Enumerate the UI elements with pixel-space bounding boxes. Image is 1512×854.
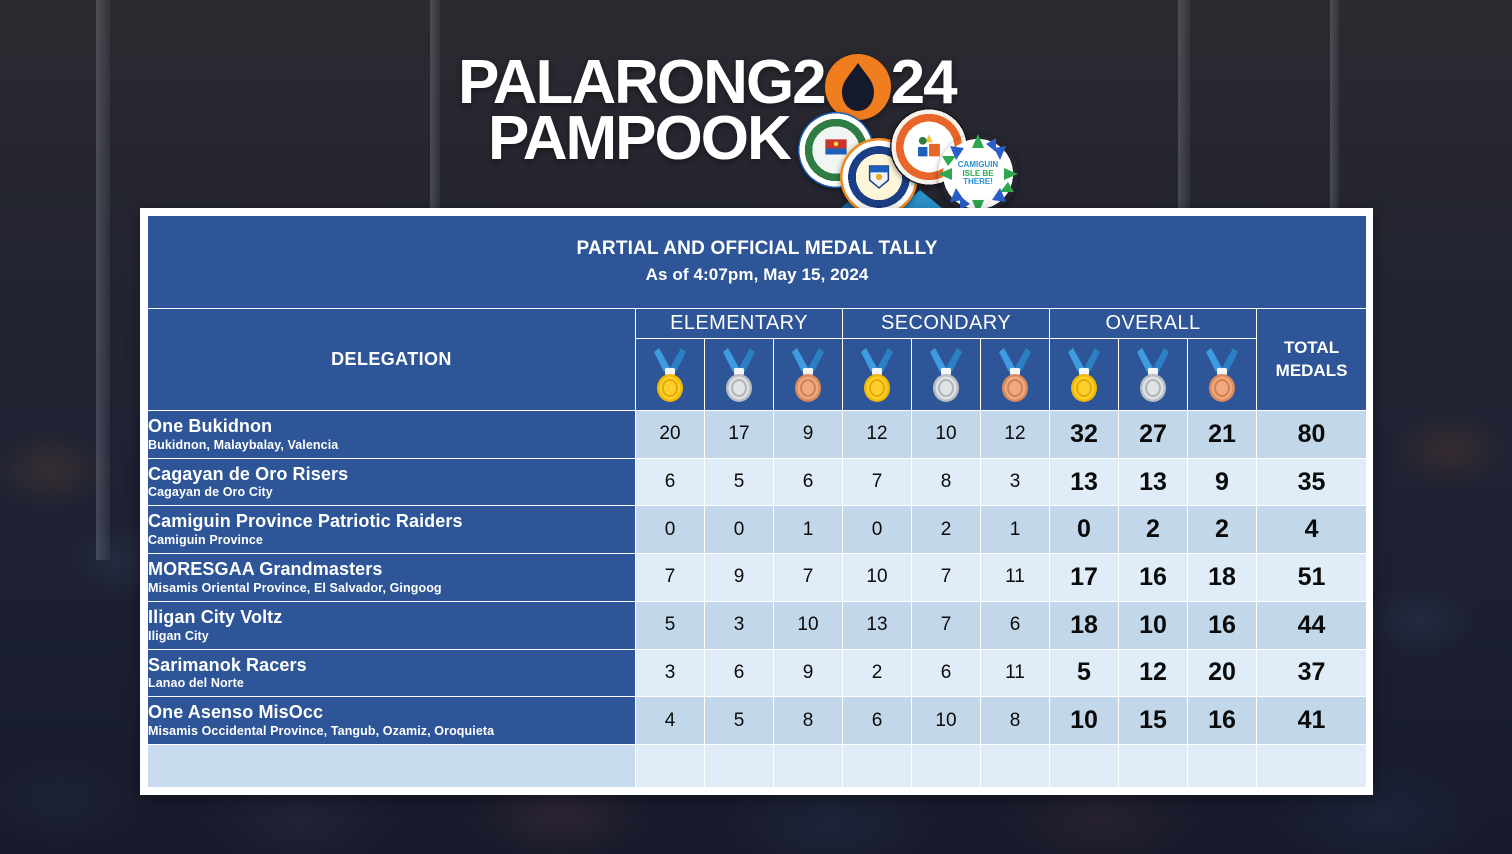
total-header-line-2: MEDALS [1257,360,1366,383]
medal-count-cell: 10 [774,601,843,649]
silver-medal-icon [705,339,774,411]
medal-count-cell: 6 [774,458,843,506]
medal-count-cell: 9 [705,554,774,602]
delegation-cell: One BukidnonBukidnon, Malaybalay, Valenc… [148,411,636,459]
gold-medal-icon [843,339,912,411]
medal-count-cell: 8 [912,458,981,506]
medal-count-cell: 6 [912,649,981,697]
table-body: One BukidnonBukidnon, Malaybalay, Valenc… [148,411,1367,745]
delegation-cell: Camiguin Province Patriotic RaidersCamig… [148,506,636,554]
delegation-cell: Sarimanok RacersLanao del Norte [148,649,636,697]
total-header-line-1: TOTAL [1257,337,1366,360]
medal-count-cell: 16 [1188,601,1257,649]
medal-count-cell: 5 [1050,649,1119,697]
group-header-elementary: ELEMENTARY [636,309,843,339]
gold-medal-icon [1050,339,1119,411]
medal-count-cell: 10 [912,411,981,459]
flame-icon [825,54,891,120]
delegation-name: One Asenso MisOcc [148,702,635,723]
medal-count-cell: 7 [843,458,912,506]
seal-caption-line-3: THERE! [963,178,993,186]
filler-cell [843,744,912,787]
logo-line-1-tail: 24 [891,48,956,117]
delegation-name: MORESGAA Grandmasters [148,559,635,580]
table-row: Sarimanok RacersLanao del Norte369261151… [148,649,1367,697]
delegation-subtitle: Lanao del Norte [148,676,635,691]
medal-count-cell: 12 [1119,649,1188,697]
medal-count-cell: 5 [636,601,705,649]
filler-cell [1119,744,1188,787]
page-title: PARTIAL AND OFFICIAL MEDAL TALLY [148,236,1366,262]
medal-count-cell: 5 [705,697,774,745]
total-medals-cell: 51 [1257,554,1367,602]
silver-medal-icon [1119,339,1188,411]
medal-count-cell: 9 [774,411,843,459]
medal-count-cell: 3 [981,458,1050,506]
medal-count-cell: 8 [981,697,1050,745]
medal-count-cell: 20 [636,411,705,459]
total-medals-cell: 35 [1257,458,1367,506]
filler-cell [1050,744,1119,787]
delegation-subtitle: Cagayan de Oro City [148,485,635,500]
medal-count-cell: 0 [1050,506,1119,554]
total-medals-cell: 80 [1257,411,1367,459]
medal-count-cell: 0 [843,506,912,554]
bronze-medal-icon [1188,339,1257,411]
event-logo: PALARONG224 PAMPOOK [440,46,1040,221]
filler-cell [636,744,705,787]
medal-count-cell: 7 [774,554,843,602]
medal-count-cell: 3 [636,649,705,697]
medal-count-cell: 9 [1188,458,1257,506]
medal-count-cell: 10 [843,554,912,602]
medal-count-cell: 2 [912,506,981,554]
medal-count-cell: 8 [774,697,843,745]
medal-count-cell: 17 [1050,554,1119,602]
filler-cell [1257,744,1367,787]
seal-emblem [863,161,894,192]
medal-count-cell: 6 [636,458,705,506]
medal-count-cell: 21 [1188,411,1257,459]
medal-count-cell: 32 [1050,411,1119,459]
delegation-subtitle: Misamis Occidental Province, Tangub, Oza… [148,724,635,739]
table-row: Camiguin Province Patriotic RaidersCamig… [148,506,1367,554]
delegation-name: Sarimanok Racers [148,655,635,676]
medal-count-cell: 20 [1188,649,1257,697]
medal-count-cell: 11 [981,554,1050,602]
table-row: Iligan City VoltzIligan City531013761810… [148,601,1367,649]
group-header-overall: OVERALL [1050,309,1257,339]
bronze-medal-icon [981,339,1050,411]
table-row: One Asenso MisOccMisamis Occidental Prov… [148,697,1367,745]
decorative-pole [96,0,110,560]
delegation-subtitle: Bukidnon, Malaybalay, Valencia [148,438,635,453]
delegation-cell: Cagayan de Oro RisersCagayan de Oro City [148,458,636,506]
medal-count-cell: 3 [705,601,774,649]
total-medals-cell: 4 [1257,506,1367,554]
medal-count-cell: 13 [1050,458,1119,506]
table-row: MORESGAA GrandmastersMisamis Oriental Pr… [148,554,1367,602]
medal-count-cell: 27 [1119,411,1188,459]
medal-count-cell: 10 [1119,601,1188,649]
delegation-name: Camiguin Province Patriotic Raiders [148,511,635,532]
medal-count-cell: 2 [1119,506,1188,554]
medal-tally-table: PARTIAL AND OFFICIAL MEDAL TALLY As of 4… [147,215,1367,788]
medal-count-cell: 7 [912,601,981,649]
gold-medal-icon [636,339,705,411]
filler-cell [774,744,843,787]
table-title-row: PARTIAL AND OFFICIAL MEDAL TALLY As of 4… [148,216,1367,309]
delegation-cell: MORESGAA GrandmastersMisamis Oriental Pr… [148,554,636,602]
medal-count-cell: 13 [1119,458,1188,506]
medal-count-cell: 1 [774,506,843,554]
medal-count-cell: 13 [843,601,912,649]
logo-line-2: PAMPOOK [488,108,790,170]
table-filler-row [148,744,1367,787]
medal-count-cell: 2 [1188,506,1257,554]
seal-caption: CAMIGUIN ISLE BE THERE! [938,134,1018,214]
medal-count-cell: 5 [705,458,774,506]
medal-count-cell: 18 [1050,601,1119,649]
filler-cell [705,744,774,787]
delegation-subtitle: Camiguin Province [148,533,635,548]
medal-count-cell: 10 [912,697,981,745]
silver-medal-icon [912,339,981,411]
medal-count-cell: 11 [981,649,1050,697]
group-header-secondary: SECONDARY [843,309,1050,339]
medal-count-cell: 7 [912,554,981,602]
delegation-subtitle: Iligan City [148,629,635,644]
medal-count-cell: 12 [843,411,912,459]
total-medals-cell: 37 [1257,649,1367,697]
delegation-column-header: DELEGATION [148,309,636,411]
medal-count-cell: 0 [705,506,774,554]
medal-count-cell: 16 [1119,554,1188,602]
total-medals-cell: 44 [1257,601,1367,649]
delegation-cell: Iligan City VoltzIligan City [148,601,636,649]
group-header-row: DELEGATION ELEMENTARY SECONDARY OVERALL … [148,309,1367,339]
filler-cell [981,744,1050,787]
camiguin-isle-be-there-seal: CAMIGUIN ISLE BE THERE! [938,134,1018,214]
delegation-cell: One Asenso MisOccMisamis Occidental Prov… [148,697,636,745]
bronze-medal-icon [774,339,843,411]
medal-count-cell: 15 [1119,697,1188,745]
medal-count-cell: 12 [981,411,1050,459]
medal-tally-card: PARTIAL AND OFFICIAL MEDAL TALLY As of 4… [140,208,1373,795]
medal-count-cell: 1 [981,506,1050,554]
medal-count-cell: 6 [981,601,1050,649]
delegation-name: Iligan City Voltz [148,607,635,628]
medal-count-cell: 7 [636,554,705,602]
filler-cell [1188,744,1257,787]
medal-count-cell: 9 [774,649,843,697]
table-title-cell: PARTIAL AND OFFICIAL MEDAL TALLY As of 4… [148,216,1367,309]
as-of-timestamp: As of 4:07pm, May 15, 2024 [148,262,1366,288]
delegation-subtitle: Misamis Oriental Province, El Salvador, … [148,581,635,596]
medal-count-cell: 0 [636,506,705,554]
table-row: Cagayan de Oro RisersCagayan de Oro City… [148,458,1367,506]
delegation-name: One Bukidnon [148,416,635,437]
delegation-name: Cagayan de Oro Risers [148,464,635,485]
filler-cell [912,744,981,787]
medal-count-cell: 10 [1050,697,1119,745]
medal-count-cell: 17 [705,411,774,459]
medal-count-cell: 6 [705,649,774,697]
medal-count-cell: 16 [1188,697,1257,745]
filler-delegation-cell [148,744,636,787]
medal-count-cell: 4 [636,697,705,745]
table-row: One BukidnonBukidnon, Malaybalay, Valenc… [148,411,1367,459]
medal-count-cell: 2 [843,649,912,697]
screen: PALARONG224 PAMPOOK [0,0,1512,854]
total-medals-cell: 41 [1257,697,1367,745]
total-medals-column-header: TOTAL MEDALS [1257,309,1367,411]
medal-count-cell: 6 [843,697,912,745]
medal-count-cell: 18 [1188,554,1257,602]
